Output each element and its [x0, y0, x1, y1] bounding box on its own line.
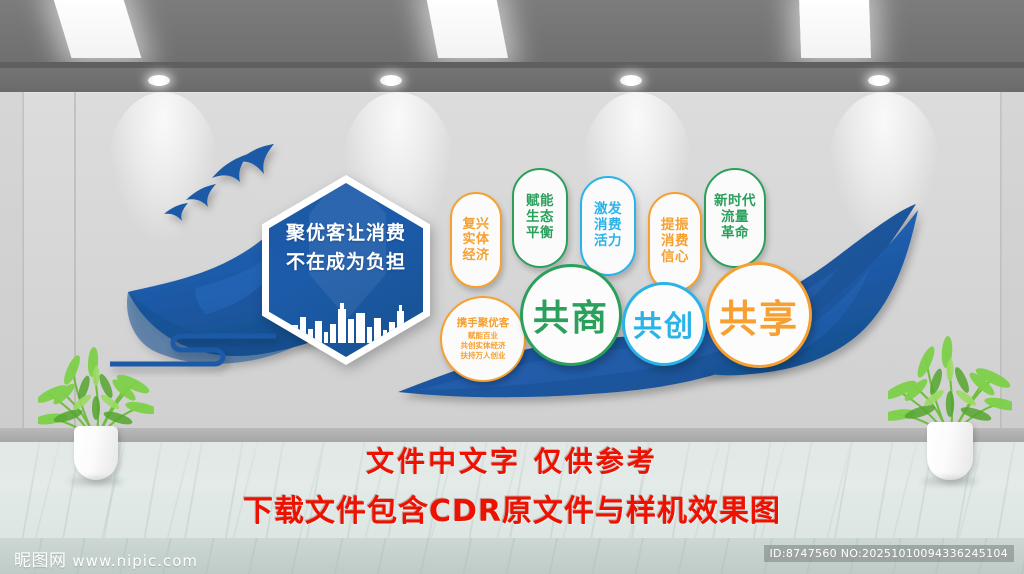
hexagon-slogan-line2: 不在成为负担 [262, 248, 430, 277]
pill-badge-xinshidai[interactable]: 新时代流量革命 [704, 168, 766, 268]
ceiling-spotlight [148, 75, 170, 86]
wall-mockup-scene: 聚优客让消费 不在成为负担 复兴实体经济 赋能生态平衡 激发消费活力 提振消费信… [0, 0, 1024, 574]
pill-badge-label: 提振消费信心 [661, 218, 689, 266]
ceiling-light-panel [426, 0, 508, 58]
circle-gongshang[interactable]: 共商 [520, 264, 622, 366]
ceiling-light-panel [53, 0, 142, 58]
circle-label: 共商 [533, 289, 609, 341]
circle-gongchuang[interactable]: 共创 [622, 282, 706, 366]
ceiling-spotlight [620, 75, 642, 86]
circle-label: 共创 [633, 303, 695, 345]
circle-badge-line2: 共创实体经济 [461, 341, 506, 351]
pill-badge-label: 复兴实体经济 [462, 217, 489, 263]
ceiling-spotlight [868, 75, 890, 86]
birds-flock [164, 144, 274, 221]
circle-badge-heading: 携手聚优客 [457, 317, 510, 330]
pill-badge-label: 新时代流量革命 [714, 194, 756, 242]
pill-badge-label: 赋能生态平衡 [526, 194, 554, 242]
hexagon-slogan-text: 聚优客让消费 不在成为负担 [262, 219, 430, 276]
circle-gongxiang[interactable]: 共享 [706, 262, 812, 368]
circle-badge-line3: 扶持万人创业 [461, 351, 506, 361]
site-url: www.nipic.com [72, 552, 198, 570]
pill-badge-jifa[interactable]: 激发消费活力 [580, 176, 636, 276]
red-watermark: 文件中文字 仅供参考 下载文件包含CDR原文件与样机效果图 [0, 440, 1024, 530]
red-watermark-line2: 下载文件包含CDR原文件与样机效果图 [0, 486, 1024, 530]
circle-label: 共享 [719, 288, 799, 343]
ceiling [0, 0, 1024, 68]
ceiling-spotlight [380, 75, 402, 86]
pill-badge-label: 激发消费活力 [594, 202, 622, 250]
site-brand: 昵图网 [14, 551, 67, 571]
red-watermark-line1: 文件中文字 仅供参考 [0, 440, 1024, 480]
site-watermark: 昵图网 www.nipic.com [14, 546, 198, 571]
circle-badge-line1: 赋能百业 [468, 331, 498, 341]
hexagon-slogan-line1: 聚优客让消费 [262, 219, 430, 248]
pill-badge-funeng[interactable]: 赋能生态平衡 [512, 168, 568, 268]
hexagon-slogan-panel: 聚优客让消费 不在成为负担 [262, 175, 430, 365]
pill-badge-tizhen[interactable]: 提振消费信心 [648, 192, 702, 292]
asset-id-badge: ID:8747560 NO:20251010094336245104 [764, 545, 1014, 562]
circle-badge-xieshou[interactable]: 携手聚优客 赋能百业 共创实体经济 扶持万人创业 [440, 296, 526, 382]
pill-badge-fuxing[interactable]: 复兴实体经济 [450, 192, 502, 288]
ceiling-light-panel [799, 0, 871, 58]
